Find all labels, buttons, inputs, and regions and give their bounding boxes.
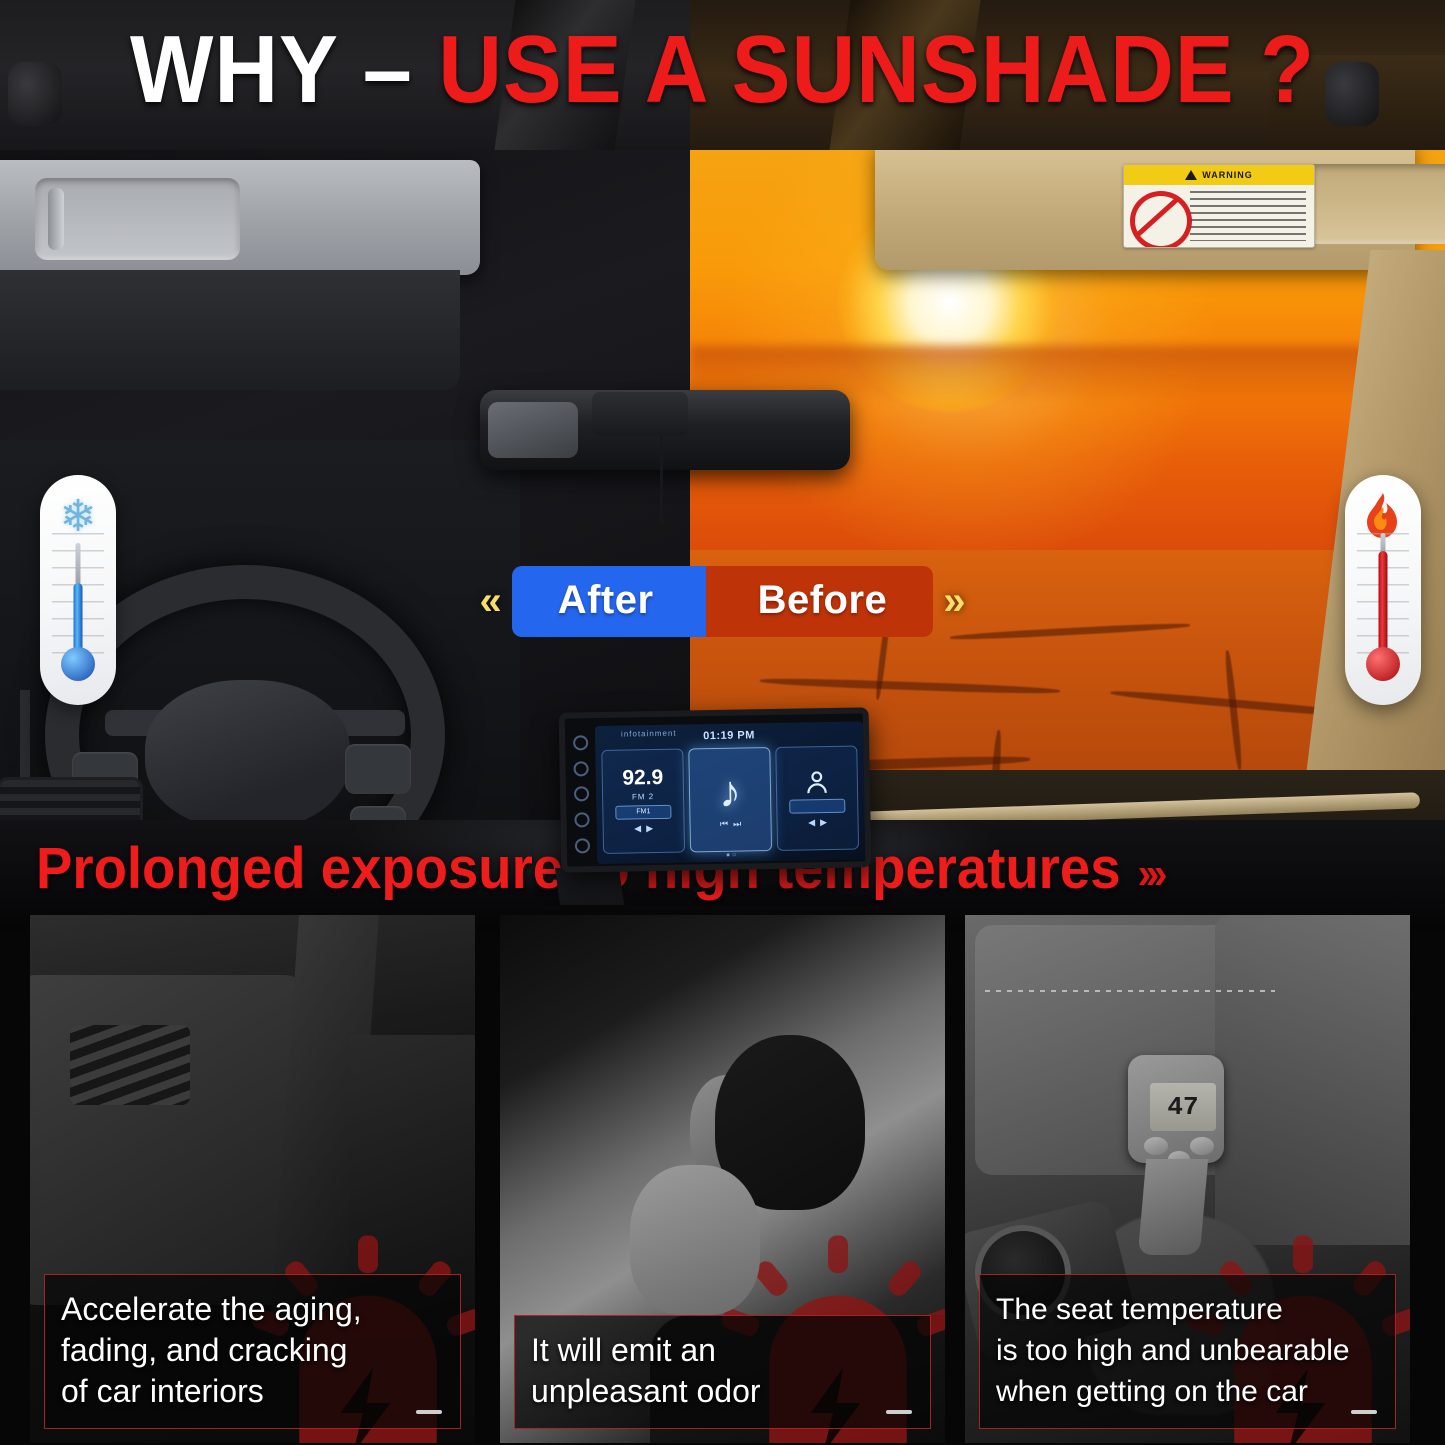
panel-interior-aging: Accelerate the aging, fading, and cracki… xyxy=(30,915,475,1443)
warning-triangle-icon xyxy=(1185,170,1197,180)
person-icon xyxy=(804,768,830,794)
gun-button-right[interactable] xyxy=(1190,1137,1214,1155)
panel-3-caption: The seat temperature is too high and unb… xyxy=(979,1274,1396,1429)
visor-slot-cool xyxy=(35,178,240,260)
before-label: Before xyxy=(706,566,934,637)
music-note-icon: ♪ xyxy=(719,770,742,814)
thermometer-gun-body: 47 xyxy=(1128,1055,1224,1163)
profile-nav-controls[interactable]: ◀ ▶ xyxy=(808,817,827,828)
infrared-thermometer-gun: 47 xyxy=(1120,1055,1230,1255)
panel-seat-temperature: 47 xyxy=(965,915,1410,1443)
chevron-right-icon: » xyxy=(933,581,975,621)
warning-label-header: WARNING xyxy=(1124,165,1314,185)
radio-card[interactable]: 92.9 FM 2 FM1 ◀ ▶ xyxy=(601,749,685,854)
menu-icon[interactable] xyxy=(574,838,589,853)
caption-line: fading, and cracking xyxy=(61,1330,444,1371)
caption-underscore-2 xyxy=(886,1410,912,1414)
media-card[interactable]: ♪ ⏮ ⏭ xyxy=(688,747,772,852)
profile-card[interactable]: ◀ ▶ xyxy=(775,746,859,851)
page-title-red: USE A SUNSHADE ? xyxy=(438,16,1315,123)
infotainment-screen[interactable]: 01:19 PM infotainment 92.9 FM 2 FM1 ◀ ▶ … xyxy=(559,707,872,872)
airbag-warning-label: WARNING xyxy=(1123,164,1315,248)
sun-visor-hot: WARNING xyxy=(875,150,1415,270)
caption-line: of car interiors xyxy=(61,1371,444,1412)
warning-label-heading: WARNING xyxy=(1202,170,1253,180)
power-icon[interactable] xyxy=(573,736,588,751)
rearview-mirror-mount xyxy=(592,392,688,436)
page-title-white: WHY – xyxy=(130,16,438,123)
gun-button-left[interactable] xyxy=(1144,1137,1168,1155)
chevron-left-icon: « xyxy=(469,581,511,621)
caption-line: unpleasant odor xyxy=(531,1371,914,1412)
caption-line: is too high and unbearable xyxy=(996,1330,1379,1371)
visor-bar-cool xyxy=(48,188,64,250)
panel-unpleasant-odor: It will emit an unpleasant odor xyxy=(500,915,945,1443)
thermometer-bulb-cold xyxy=(61,647,95,681)
caption-underscore-1 xyxy=(416,1410,442,1414)
infotainment-side-buttons[interactable] xyxy=(569,730,593,858)
steering-wheel-hub xyxy=(145,680,350,830)
infotainment-clock: 01:19 PM xyxy=(703,729,755,742)
car-seat-back-photo-3 xyxy=(1215,915,1410,1245)
title-knob-left xyxy=(8,62,62,126)
media-transport-controls[interactable]: ⏮ ⏭ xyxy=(720,818,741,829)
profile-pill[interactable] xyxy=(789,798,845,813)
air-vent-photo-1 xyxy=(70,1025,190,1105)
infotainment-brand: infotainment xyxy=(621,729,677,739)
infotainment-stand xyxy=(555,868,629,905)
sun-visor-cool xyxy=(0,160,480,275)
thermometer-gun-reading: 47 xyxy=(1167,1092,1198,1122)
panel-1-caption: Accelerate the aging, fading, and cracki… xyxy=(44,1274,461,1429)
before-after-badge: « After Before » xyxy=(0,565,1445,637)
page-title: WHY – USE A SUNSHADE ? xyxy=(58,22,1387,118)
no-child-seat-icon xyxy=(1130,191,1192,248)
sunshade-infographic: WHY – USE A SUNSHADE ? xyxy=(0,0,1445,1445)
thermometer-gun-display: 47 xyxy=(1150,1083,1216,1131)
volume-icon[interactable] xyxy=(573,787,588,802)
wheel-button-right xyxy=(345,744,411,794)
after-label: After xyxy=(512,566,706,637)
radio-preset[interactable]: FM1 xyxy=(615,805,671,820)
warning-label-text-lines xyxy=(1190,191,1306,241)
headline-chevrons-icon: ››› xyxy=(1121,849,1162,898)
caption-line: when getting on the car xyxy=(996,1371,1379,1412)
infotainment-cards: 92.9 FM 2 FM1 ◀ ▶ ♪ ⏮ ⏭ xyxy=(601,746,859,854)
radio-frequency: 92.9 xyxy=(622,768,663,789)
caption-line: The seat temperature xyxy=(996,1289,1379,1330)
visor-body-cool xyxy=(0,270,460,390)
thermometer-gun-grip xyxy=(1138,1159,1208,1255)
mirror-cable xyxy=(660,435,663,523)
title-band: WHY – USE A SUNSHADE ? xyxy=(0,0,1445,150)
rearview-mirror-glass xyxy=(488,402,578,458)
caption-underscore-3 xyxy=(1351,1410,1377,1414)
caption-line: Accelerate the aging, xyxy=(61,1289,444,1330)
infotainment-display: 01:19 PM infotainment 92.9 FM 2 FM1 ◀ ▶ … xyxy=(595,721,865,864)
radio-seek-controls[interactable]: ◀ ▶ xyxy=(634,823,653,834)
seat-stitching xyxy=(985,990,1275,992)
panel-2-caption: It will emit an unpleasant odor xyxy=(514,1315,931,1429)
caption-line: It will emit an xyxy=(531,1330,914,1371)
radio-band: FM 2 xyxy=(632,792,654,801)
thermometer-bulb-hot xyxy=(1366,647,1400,681)
home-icon[interactable] xyxy=(573,761,588,776)
driver-hand xyxy=(630,1165,760,1315)
hero-comparison: WARNING xyxy=(0,150,1445,905)
consequence-panels: Accelerate the aging, fading, and cracki… xyxy=(0,915,1445,1445)
back-icon[interactable] xyxy=(574,812,589,827)
